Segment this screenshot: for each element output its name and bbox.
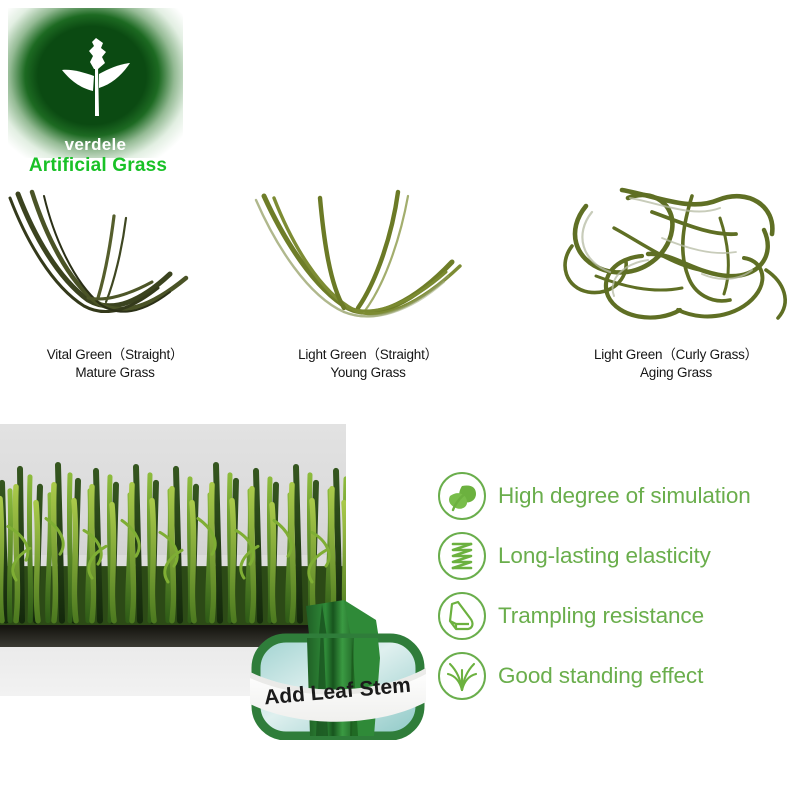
product-infographic: verdele Artificial Grass Vital Green（Str… [0, 0, 800, 800]
plant-sprout-icon [60, 36, 132, 122]
feature-label: Long-lasting elasticity [498, 543, 711, 569]
caption-line-2: Young Grass [248, 364, 488, 382]
feature-label: High degree of simulation [498, 483, 751, 509]
fiber-sample-vital-green: Vital Green（Straight） Mature Grass [0, 178, 230, 383]
grass-tuft-icon [436, 650, 488, 702]
feature-label: Good standing effect [498, 663, 703, 689]
grass-fiber-straight-dark-icon [0, 178, 230, 333]
leaf-icon [436, 470, 488, 522]
caption-line-1: Light Green（Curly Grass） [594, 347, 758, 362]
feature-item-good-standing-effect[interactable]: Good standing effect [436, 646, 800, 706]
add-leaf-stem-badge: Add Leaf Stem [248, 598, 428, 740]
caption-line-2: Aging Grass [552, 364, 800, 382]
feature-label: Trampling resistance [498, 603, 704, 629]
spring-icon [436, 530, 488, 582]
caption-line-1: Vital Green（Straight） [47, 347, 184, 362]
feature-list: High degree of simulation Long-lasting e… [436, 466, 800, 706]
caption-line-2: Mature Grass [0, 364, 230, 382]
brand-tagline: Artificial Grass [8, 156, 188, 175]
foot-icon [436, 590, 488, 642]
feature-item-high-degree-of-simulation[interactable]: High degree of simulation [436, 466, 800, 526]
fiber-sample-caption: Vital Green（Straight） Mature Grass [0, 346, 230, 382]
caption-line-1: Light Green（Straight） [298, 347, 438, 362]
fiber-sample-caption: Light Green（Curly Grass） Aging Grass [552, 346, 800, 382]
feature-item-trampling-resistance[interactable]: Trampling resistance [436, 586, 800, 646]
brand-name: verdele [8, 136, 183, 153]
fiber-sample-caption: Light Green（Straight） Young Grass [248, 346, 488, 382]
grass-fiber-curly-icon [552, 178, 800, 333]
brand-logo: verdele Artificial Grass [8, 8, 198, 188]
fiber-sample-light-green-straight: Light Green（Straight） Young Grass [248, 178, 488, 383]
grass-fiber-straight-light-icon [248, 178, 488, 333]
fiber-sample-row: Vital Green（Straight） Mature Grass [0, 178, 800, 383]
fiber-sample-light-green-curly: Light Green（Curly Grass） Aging Grass [552, 178, 800, 383]
feature-item-long-lasting-elasticity[interactable]: Long-lasting elasticity [436, 526, 800, 586]
